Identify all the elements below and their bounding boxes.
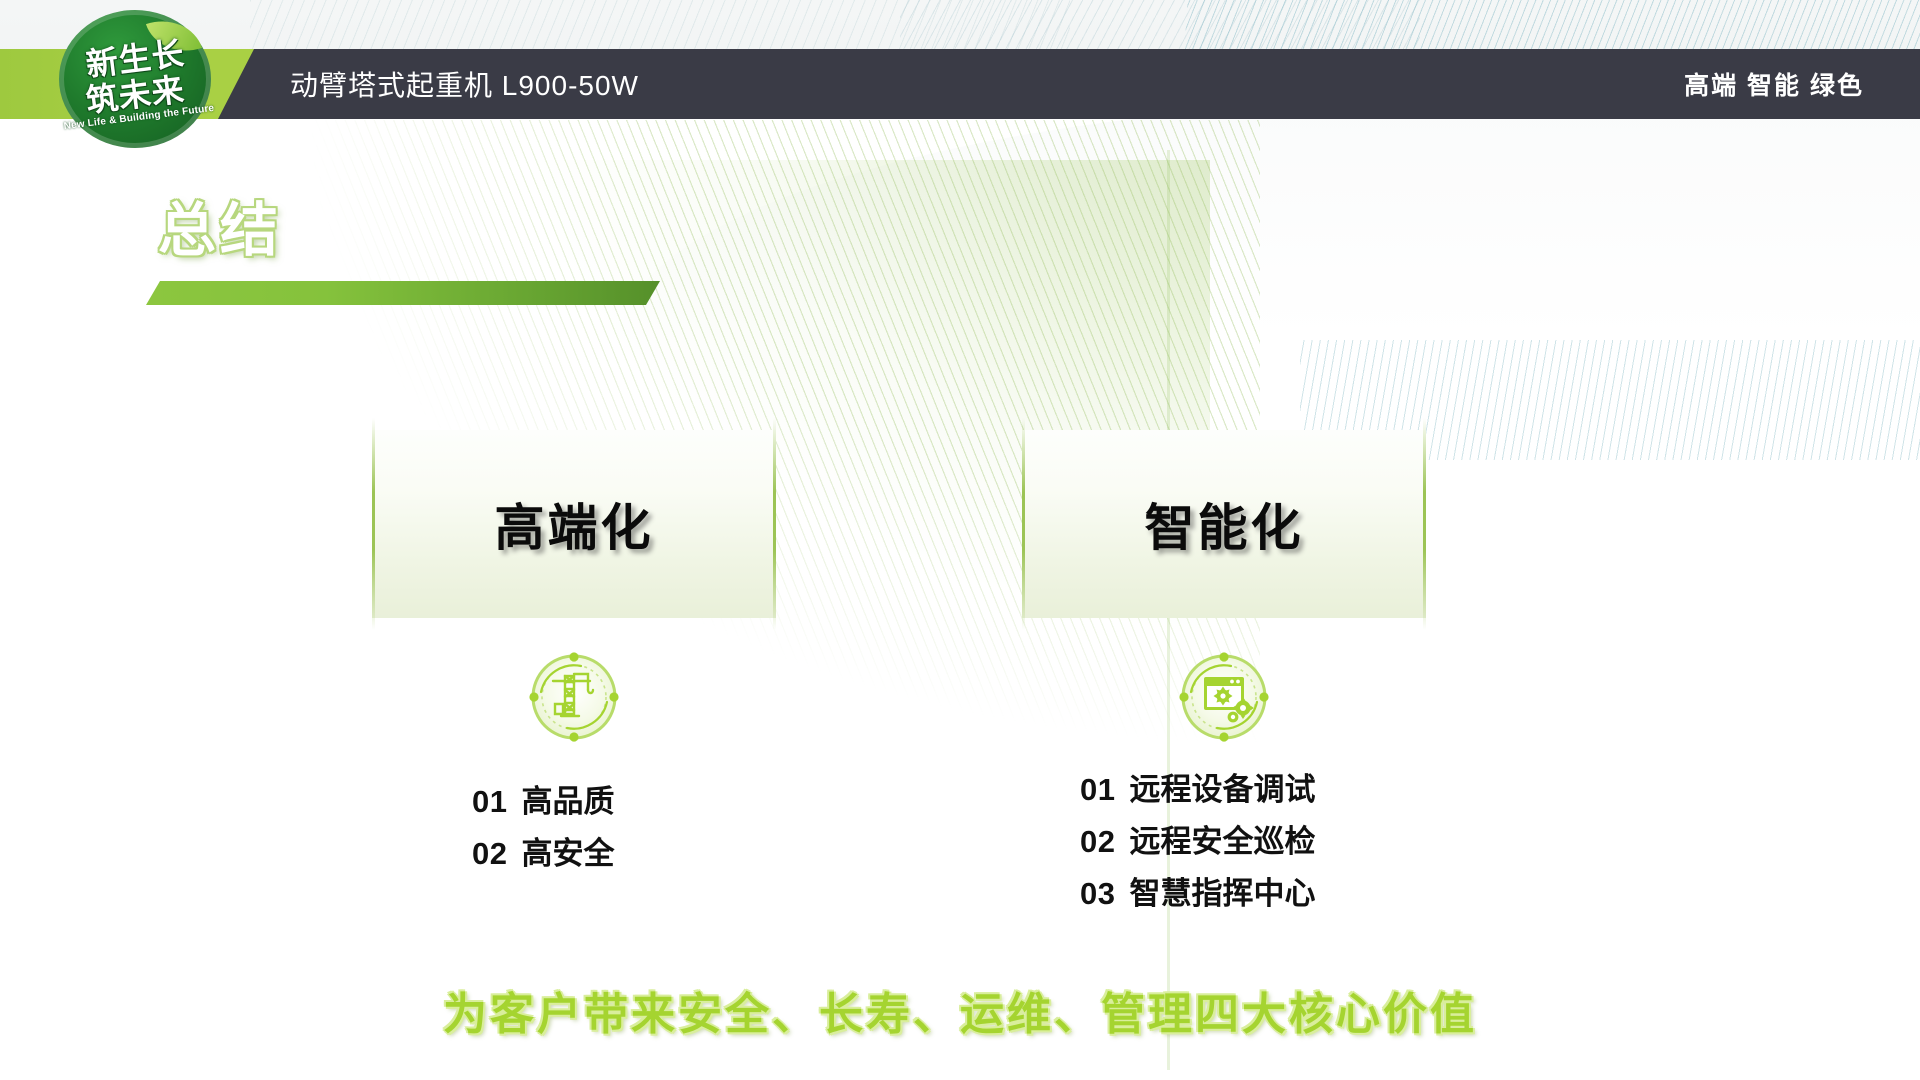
tower-crane-icon [521, 644, 627, 750]
list-item: 01 高品质 [472, 776, 776, 828]
column-zhinenghua: 智能化 [1022, 430, 1426, 920]
bullet-number: 03 [1080, 868, 1115, 920]
bullet-label: 智慧指挥中心 [1129, 868, 1315, 920]
bottom-slogan: 为客户带来安全、长寿、运维、管理四大核心价值 [0, 978, 1920, 1042]
column-card: 高端化 [372, 430, 776, 618]
bullet-number: 02 [472, 828, 507, 880]
column-title: 智能化 [1145, 488, 1304, 560]
slide-canvas: 动臂塔式起重机 L900-50W 高端 智能 绿色 新生长 筑未来 New Li… [0, 0, 1920, 1080]
bullet-label: 高品质 [521, 776, 614, 828]
bullet-label: 远程安全巡检 [1129, 816, 1315, 868]
bullet-number: 01 [472, 776, 507, 828]
list-item: 03 智慧指挥中心 [1080, 868, 1426, 920]
column-card: 智能化 [1022, 430, 1426, 618]
bullet-label: 高安全 [521, 828, 614, 880]
list-item: 01 远程设备调试 [1080, 764, 1426, 816]
column-gaoduanhua: 高端化 [372, 430, 776, 880]
bullet-label: 远程设备调试 [1129, 764, 1315, 816]
bullet-list: 01 远程设备调试 02 远程安全巡检 03 智慧指挥中心 [1022, 764, 1426, 920]
bullet-list: 01 高品质 02 高安全 [372, 776, 776, 880]
bullet-number: 02 [1080, 816, 1115, 868]
list-item: 02 远程安全巡检 [1080, 816, 1426, 868]
column-title: 高端化 [495, 488, 654, 560]
content-columns: 高端化 [0, 0, 1920, 1080]
remote-settings-icon [1171, 644, 1277, 750]
list-item: 02 高安全 [472, 828, 776, 880]
bullet-number: 01 [1080, 764, 1115, 816]
